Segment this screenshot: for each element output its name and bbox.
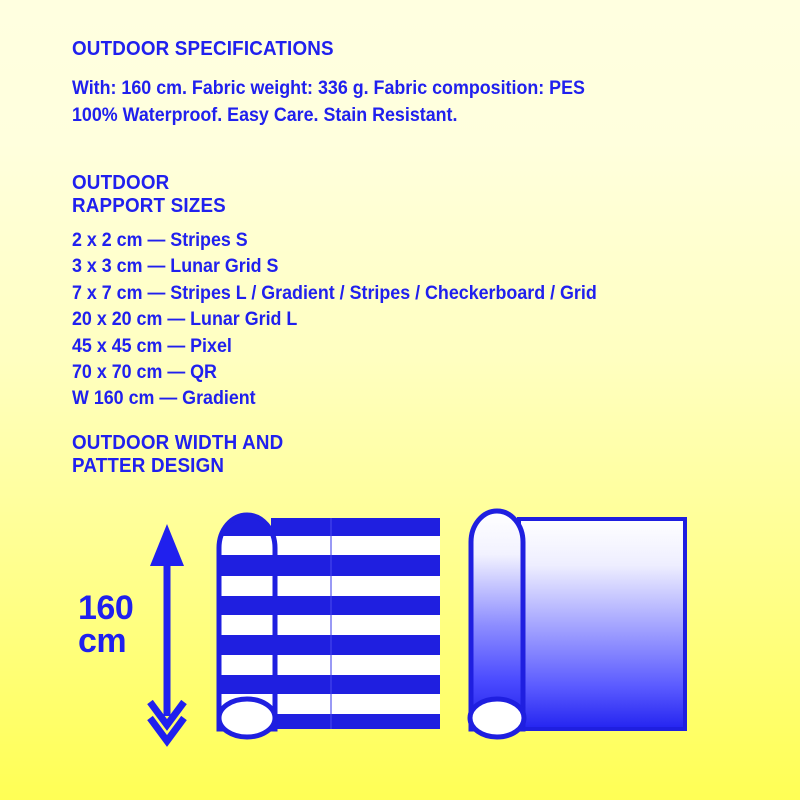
width-design-heading: OUTDOOR WIDTH AND PATTER DESIGN bbox=[72, 432, 283, 478]
specifications-heading: OUTDOOR SPECIFICATIONS bbox=[72, 38, 334, 61]
measurement-label: 160 cm bbox=[78, 592, 133, 658]
rapport-sizes-heading: OUTDOOR RAPPORT SIZES bbox=[72, 172, 226, 218]
rapport-sizes-list: 2 x 2 cm — Stripes S 3 x 3 cm — Lunar Gr… bbox=[72, 228, 730, 413]
specifications-body-text: With: 160 cm. Fabric weight: 336 g. Fabr… bbox=[72, 76, 721, 130]
specification-sheet: OUTDOOR SPECIFICATIONS With: 160 cm. Fab… bbox=[72, 0, 772, 800]
